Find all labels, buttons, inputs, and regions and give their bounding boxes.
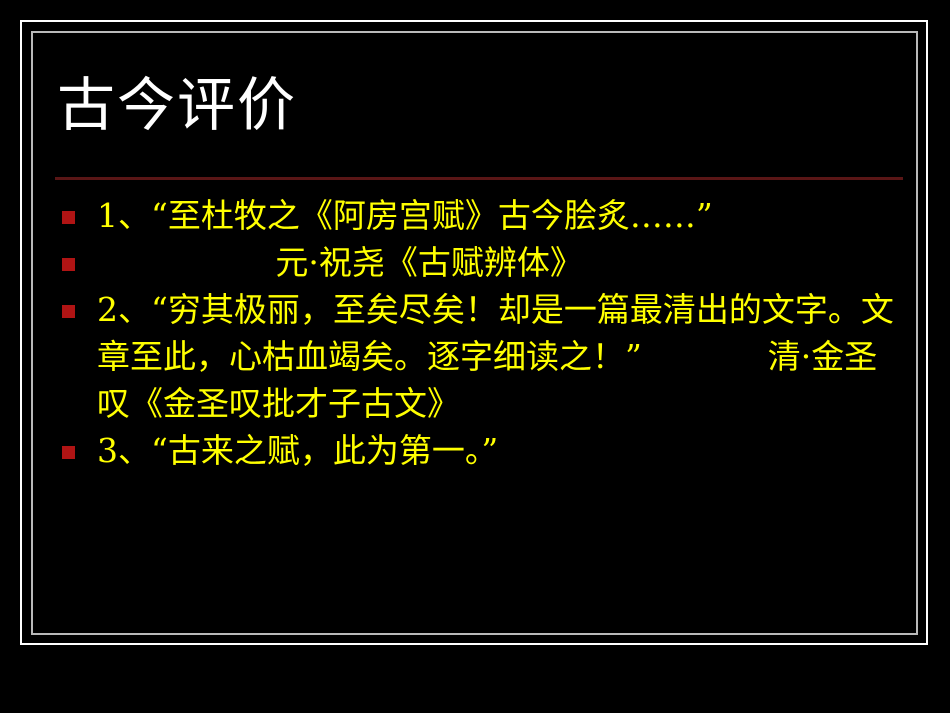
title-divider-rule	[55, 177, 903, 180]
bullet-item-3-text: 2、“穷其极丽，至矣尽矣！却是一篇最清出的文字。文章至此，心枯血竭矣。逐字细读之…	[97, 286, 905, 427]
bullet-item-4: 3、“古来之赋，此为第一。”	[55, 427, 905, 474]
bullet-list: 1、“至杜牧之《阿房宫赋》古今脍炙……” 元·祝尧《古赋辨体》 2、“穷其极丽，…	[55, 192, 905, 474]
square-bullet-icon	[62, 211, 75, 224]
bullet-item-2: 元·祝尧《古赋辨体》	[55, 239, 905, 286]
square-bullet-icon	[62, 305, 75, 318]
bullet-item-1: 1、“至杜牧之《阿房宫赋》古今脍炙……”	[55, 192, 905, 239]
square-bullet-icon	[62, 446, 75, 459]
square-bullet-icon	[62, 258, 75, 271]
slide-canvas: 古今评价 1、“至杜牧之《阿房宫赋》古今脍炙……” 元·祝尧《古赋辨体》 2、“…	[0, 0, 950, 713]
bullet-item-2-text: 元·祝尧《古赋辨体》	[97, 239, 905, 286]
slide-title: 古今评价	[57, 76, 907, 134]
bullet-item-4-text: 3、“古来之赋，此为第一。”	[97, 427, 905, 474]
bullet-item-1-text: 1、“至杜牧之《阿房宫赋》古今脍炙……”	[97, 192, 905, 239]
bullet-item-3: 2、“穷其极丽，至矣尽矣！却是一篇最清出的文字。文章至此，心枯血竭矣。逐字细读之…	[55, 286, 905, 427]
